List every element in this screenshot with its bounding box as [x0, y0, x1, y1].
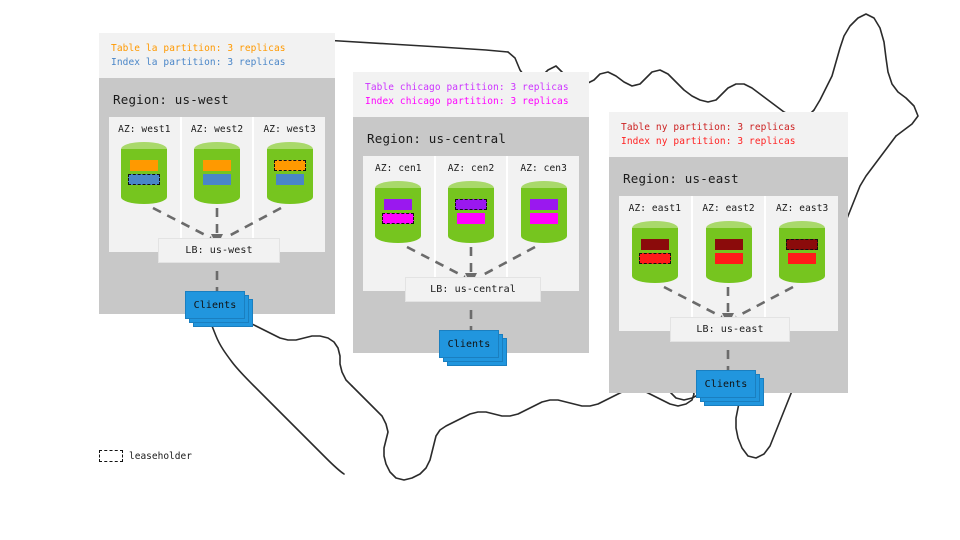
- az-label-east3: AZ: east3: [766, 203, 838, 214]
- table-la-replica: [130, 160, 158, 171]
- index-la-replica: [203, 174, 231, 185]
- clients-label: Clients: [194, 300, 237, 311]
- index-la-replica: [276, 174, 304, 185]
- az-cell-east3[interactable]: AZ: east3: [766, 196, 838, 331]
- diagram-canvas: Table la partition: 3 replicas Index la …: [0, 0, 960, 540]
- az-cell-west2[interactable]: AZ: west2: [182, 117, 255, 252]
- load-balancer-us-central[interactable]: LB: us-central: [405, 277, 541, 302]
- lb-label: LB: us-east: [696, 324, 763, 335]
- cylinder-bottom-icon: [375, 229, 421, 243]
- region-panel-us-west: Table la partition: 3 replicas Index la …: [99, 33, 335, 314]
- partition-line-table-chicago: Table chicago partition: 3 replicas: [365, 81, 577, 95]
- az-strip-us-central: AZ: cen1 AZ: cen2: [363, 156, 579, 291]
- cylinder-bottom-icon: [521, 229, 567, 243]
- node-cen1[interactable]: [375, 181, 421, 243]
- region-body-us-central: Region: us-central AZ: cen1: [353, 117, 589, 353]
- lb-label: LB: us-central: [430, 284, 516, 295]
- node-east1[interactable]: [632, 221, 678, 283]
- az-cell-east1[interactable]: AZ: east1: [619, 196, 693, 331]
- node-east2[interactable]: [706, 221, 752, 283]
- az-cell-west1[interactable]: AZ: west1: [109, 117, 182, 252]
- az-label-east2: AZ: east2: [693, 203, 765, 214]
- region-title-us-west: Region: us-west: [113, 92, 323, 107]
- partition-line-table-ny: Table ny partition: 3 replicas: [621, 121, 836, 135]
- az-cell-cen2[interactable]: AZ: cen2: [436, 156, 509, 291]
- lb-label: LB: us-west: [185, 245, 252, 256]
- index-ny-replica: [788, 253, 816, 264]
- table-chicago-replica: [455, 199, 487, 210]
- az-cell-cen1[interactable]: AZ: cen1: [363, 156, 436, 291]
- cylinder-bottom-icon: [632, 269, 678, 283]
- index-ny-replica: [715, 253, 743, 264]
- az-label-west1: AZ: west1: [109, 124, 180, 135]
- clients-stack-us-east[interactable]: Clients: [696, 370, 768, 408]
- region-body-us-east: Region: us-east AZ: east1 AZ: [609, 157, 848, 393]
- node-west1[interactable]: [121, 142, 167, 204]
- partition-line-index-la: Index la partition: 3 replicas: [111, 56, 323, 70]
- region-title-us-east: Region: us-east: [623, 171, 836, 186]
- az-label-west2: AZ: west2: [182, 124, 253, 135]
- index-chicago-replica: [457, 213, 485, 224]
- load-balancer-us-east[interactable]: LB: us-east: [670, 317, 790, 342]
- region-header-us-east: Table ny partition: 3 replicas Index ny …: [609, 112, 848, 157]
- region-panel-us-east: Table ny partition: 3 replicas Index ny …: [609, 112, 848, 393]
- region-panel-us-central: Table chicago partition: 3 replicas Inde…: [353, 72, 589, 353]
- index-chicago-replica: [530, 213, 558, 224]
- index-ny-replica: [639, 253, 671, 264]
- leaseholder-dashed-icon: [99, 450, 123, 462]
- az-label-cen1: AZ: cen1: [363, 163, 434, 174]
- cylinder-bottom-icon: [706, 269, 752, 283]
- az-label-cen3: AZ: cen3: [508, 163, 579, 174]
- index-chicago-replica: [382, 213, 414, 224]
- replica-bands-east2: [706, 239, 752, 267]
- clients-card-front[interactable]: Clients: [185, 291, 245, 319]
- az-label-west3: AZ: west3: [254, 124, 325, 135]
- az-label-east1: AZ: east1: [619, 203, 691, 214]
- replica-bands-cen3: [521, 199, 567, 227]
- node-east3[interactable]: [779, 221, 825, 283]
- cylinder-bottom-icon: [448, 229, 494, 243]
- region-header-us-central: Table chicago partition: 3 replicas Inde…: [353, 72, 589, 117]
- az-label-cen2: AZ: cen2: [436, 163, 507, 174]
- partition-line-index-chicago: Index chicago partition: 3 replicas: [365, 95, 577, 109]
- replica-bands-west2: [194, 160, 240, 188]
- legend: leaseholder: [99, 450, 192, 462]
- clients-stack-us-west[interactable]: Clients: [185, 291, 257, 329]
- partition-line-table-la: Table la partition: 3 replicas: [111, 42, 323, 56]
- node-west2[interactable]: [194, 142, 240, 204]
- replica-bands-cen2: [448, 199, 494, 227]
- clients-card-front[interactable]: Clients: [439, 330, 499, 358]
- clients-label: Clients: [705, 379, 748, 390]
- region-body-us-west: Region: us-west AZ: west1 AZ: [99, 78, 335, 314]
- table-ny-replica: [715, 239, 743, 250]
- region-title-us-central: Region: us-central: [367, 131, 577, 146]
- table-la-replica: [203, 160, 231, 171]
- az-strip-us-west: AZ: west1 AZ: west2: [109, 117, 325, 252]
- az-cell-east2[interactable]: AZ: east2: [693, 196, 767, 331]
- node-cen3[interactable]: [521, 181, 567, 243]
- region-header-us-west: Table la partition: 3 replicas Index la …: [99, 33, 335, 78]
- partition-line-index-ny: Index ny partition: 3 replicas: [621, 135, 836, 149]
- replica-bands-east1: [632, 239, 678, 267]
- table-ny-replica: [641, 239, 669, 250]
- clients-card-front[interactable]: Clients: [696, 370, 756, 398]
- cylinder-bottom-icon: [779, 269, 825, 283]
- cylinder-bottom-icon: [267, 190, 313, 204]
- replica-bands-west1: [121, 160, 167, 188]
- index-la-replica: [128, 174, 160, 185]
- replica-bands-cen1: [375, 199, 421, 227]
- node-cen2[interactable]: [448, 181, 494, 243]
- clients-label: Clients: [448, 339, 491, 350]
- load-balancer-us-west[interactable]: LB: us-west: [158, 238, 280, 263]
- table-chicago-replica: [530, 199, 558, 210]
- legend-label: leaseholder: [129, 451, 192, 462]
- az-strip-us-east: AZ: east1 AZ: east2: [619, 196, 838, 331]
- table-chicago-replica: [384, 199, 412, 210]
- az-cell-west3[interactable]: AZ: west3: [254, 117, 325, 252]
- cylinder-bottom-icon: [194, 190, 240, 204]
- clients-stack-us-central[interactable]: Clients: [439, 330, 511, 368]
- az-cell-cen3[interactable]: AZ: cen3: [508, 156, 579, 291]
- replica-bands-east3: [779, 239, 825, 267]
- table-la-replica: [274, 160, 306, 171]
- table-ny-replica: [786, 239, 818, 250]
- node-west3[interactable]: [267, 142, 313, 204]
- cylinder-bottom-icon: [121, 190, 167, 204]
- replica-bands-west3: [267, 160, 313, 188]
